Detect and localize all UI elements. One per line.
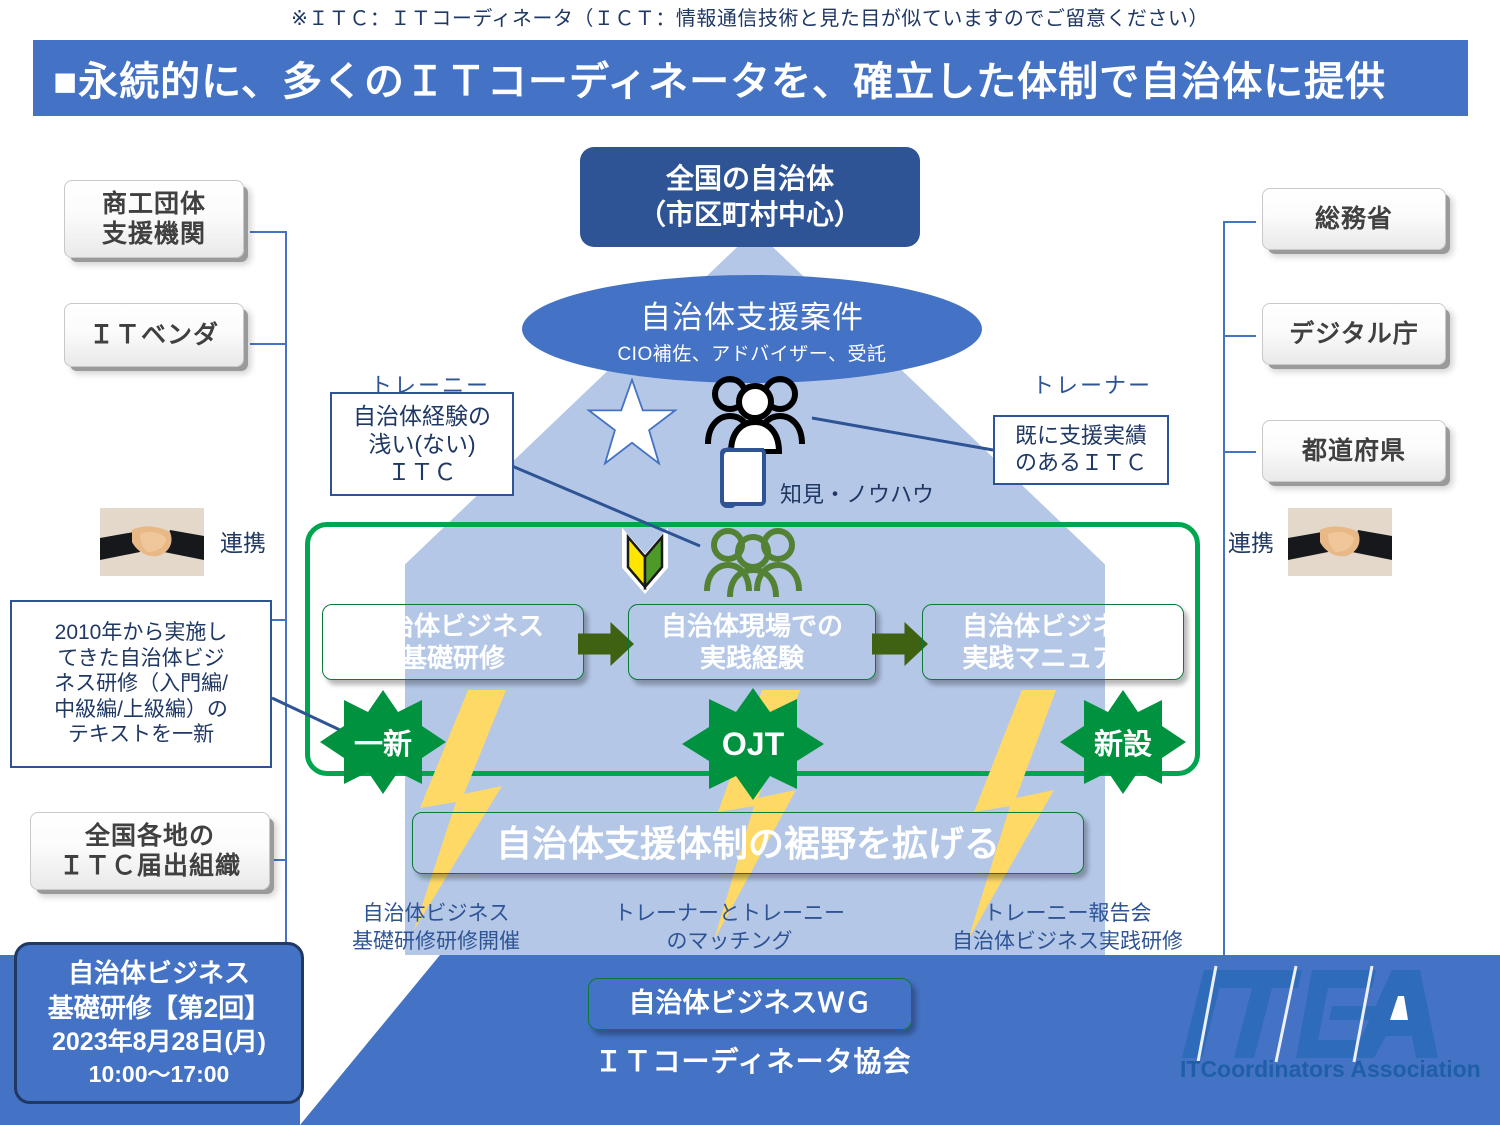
left-box-commerce-line1: 商工団体 (102, 189, 206, 219)
flow-box-3-line1: 自治体ビジネス (962, 610, 1144, 643)
flow-label-3: トレーニー報告会 自治体ビジネス実践研修 (952, 900, 1183, 957)
flow-label-1-line2: 基礎研修研修開催 (352, 928, 520, 956)
burst-badge-3-label: 新設 (1094, 721, 1152, 763)
left-box-vendor-label: ＩＴベンダ (89, 320, 219, 350)
right-box-ministry-label: 総務省 (1315, 204, 1393, 234)
textbook-callout-line1: 2010年から実施し (55, 620, 228, 646)
expand-support-label: 自治体支援体制の裾野を拡げる (496, 821, 1000, 866)
handshake-photo-right (1288, 508, 1392, 576)
trainee-callout-line3: ＩＴＣ (388, 458, 457, 486)
right-box-digital-agency[interactable]: デジタル庁 (1262, 303, 1446, 365)
slide-canvas: ※ＩＴＣ：ＩＴコーディネータ（ＩＣＴ：情報通信技術と見た目が似ていますのでご留意… (0, 0, 1500, 1125)
flow-box-practice-manual[interactable]: 自治体ビジネス 実践マニュアル (922, 604, 1184, 680)
right-box-ministry[interactable]: 総務省 (1262, 188, 1446, 250)
left-box-itc-organizations[interactable]: 全国各地の ＩＴＣ届出組織 (30, 812, 270, 890)
left-box-itc-line1: 全国各地の (85, 821, 215, 851)
flow-box-2-line2: 実践経験 (700, 642, 804, 675)
expand-support-banner[interactable]: 自治体支援体制の裾野を拡げる (412, 812, 1084, 874)
burst-badge-new: 新設 (1058, 690, 1188, 794)
textbook-callout-line4: 中級編/上級編）の (54, 697, 228, 723)
burst-badge-ojt: OJT (680, 688, 826, 800)
textbook-callout-line2: てきた自治体ビジ (57, 646, 224, 672)
burst-badge-1-label: 一新 (354, 721, 412, 763)
event-info-box[interactable]: 自治体ビジネス 基礎研修【第2回】 2023年8月28日(月) 10:00〜17… (14, 942, 304, 1104)
burst-badge-2-label: OJT (722, 726, 784, 763)
renkei-label-right: 連携 (1228, 524, 1274, 558)
right-box-prefectures[interactable]: 都道府県 (1262, 420, 1446, 482)
knowhow-label: 知見・ノウハウ (780, 477, 934, 509)
event-line1: 自治体ビジネス (68, 956, 250, 991)
left-box-itc-line2: ＩＴＣ届出組織 (59, 851, 241, 881)
trainer-callout-line1: 既に支援実績 (1015, 423, 1147, 450)
renkei-label-left: 連携 (220, 524, 266, 558)
trainer-label: トレーナー (1032, 368, 1152, 400)
flow-label-2-line1: トレーナーとトレーニー (614, 900, 845, 928)
working-group-box[interactable]: 自治体ビジネスＷＧ (588, 978, 912, 1030)
trainer-callout: 既に支援実績 のあるＩＴＣ (993, 415, 1169, 485)
trainee-callout: 自治体経験の 浅い(ない) ＩＴＣ (330, 392, 514, 496)
left-box-it-vendor[interactable]: ＩＴベンダ (64, 303, 244, 367)
textbook-renewal-callout: 2010年から実施し てきた自治体ビジ ネス研修（入門編/ 中級編/上級編）の … (10, 600, 272, 768)
trainer-callout-line2: のあるＩＴＣ (1015, 450, 1147, 477)
flow-label-3-line1: トレーニー報告会 (952, 900, 1183, 928)
flow-label-1: 自治体ビジネス 基礎研修研修開催 (352, 900, 520, 957)
right-box-prefectures-label: 都道府県 (1302, 436, 1406, 466)
flow-box-3-line2: 実践マニュアル (962, 642, 1143, 675)
textbook-callout-line5: テキストを一新 (68, 722, 214, 748)
flow-label-1-line1: 自治体ビジネス (352, 900, 520, 928)
flow-box-1-line2: 基礎研修 (401, 642, 505, 675)
flow-box-field-experience[interactable]: 自治体現場での 実践経験 (628, 604, 876, 680)
flow-box-2-line1: 自治体現場での (661, 610, 843, 643)
itca-logo-subtitle: ITCoordinators Association (1180, 1056, 1480, 1083)
flow-box-basic-training[interactable]: 自治体ビジネス 基礎研修 (322, 604, 584, 680)
left-box-commerce-line2: 支援機関 (102, 219, 206, 249)
flow-label-2-line2: のマッチング (614, 928, 845, 956)
right-box-digital-label: デジタル庁 (1289, 319, 1419, 349)
association-name: ＩＴコーディネータ協会 (588, 1040, 918, 1080)
trainee-callout-line2: 浅い(ない) (368, 430, 475, 458)
flow-label-2: トレーナーとトレーニー のマッチング (614, 900, 845, 957)
handshake-photo-left (100, 508, 204, 576)
flow-label-3-line2: 自治体ビジネス実践研修 (952, 928, 1183, 956)
event-line2: 基礎研修【第2回】 (48, 991, 270, 1026)
textbook-callout-line3: ネス研修（入門編/ (54, 671, 228, 697)
trainee-callout-line1: 自治体経験の (353, 402, 491, 430)
burst-badge-renewed: 一新 (318, 690, 448, 794)
event-line4: 10:00〜17:00 (89, 1059, 230, 1090)
left-box-commerce-group[interactable]: 商工団体 支援機関 (64, 180, 244, 258)
flow-box-1-line1: 自治体ビジネス (362, 610, 544, 643)
working-group-label: 自治体ビジネスＷＧ (629, 987, 872, 1021)
event-line3: 2023年8月28日(月) (52, 1026, 266, 1060)
